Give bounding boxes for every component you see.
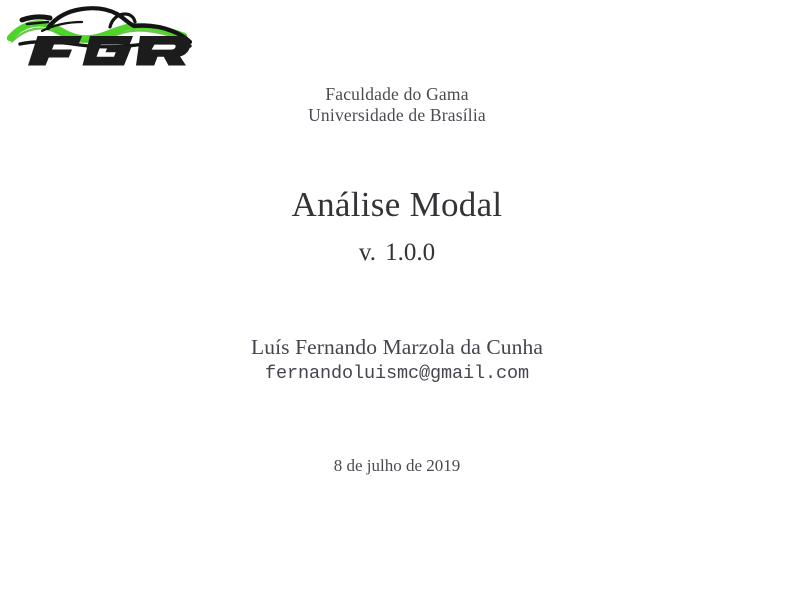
institution-block: Faculdade do Gama Universidade de Brasíl… <box>0 84 794 126</box>
author-name: Luís Fernando Marzola da Cunha <box>0 334 794 360</box>
fgr-logo-icon <box>4 0 196 66</box>
author-email: fernandoluismc@gmail.com <box>0 362 794 386</box>
version-label: v. <box>359 239 376 266</box>
document-version: v.1.0.0 <box>0 238 794 268</box>
version-number: 1.0.0 <box>385 239 435 266</box>
institution-faculty: Faculdade do Gama <box>0 84 794 105</box>
institution-university: Universidade de Brasília <box>0 105 794 126</box>
title-page: Faculdade do Gama Universidade de Brasíl… <box>0 0 794 597</box>
logo-wordmark-fgr <box>28 36 191 66</box>
document-title: Análise Modal <box>0 185 794 225</box>
document-date: 8 de julho de 2019 <box>0 455 794 477</box>
fgr-logo <box>4 0 196 66</box>
author-block: Luís Fernando Marzola da Cunha fernandol… <box>0 334 794 386</box>
